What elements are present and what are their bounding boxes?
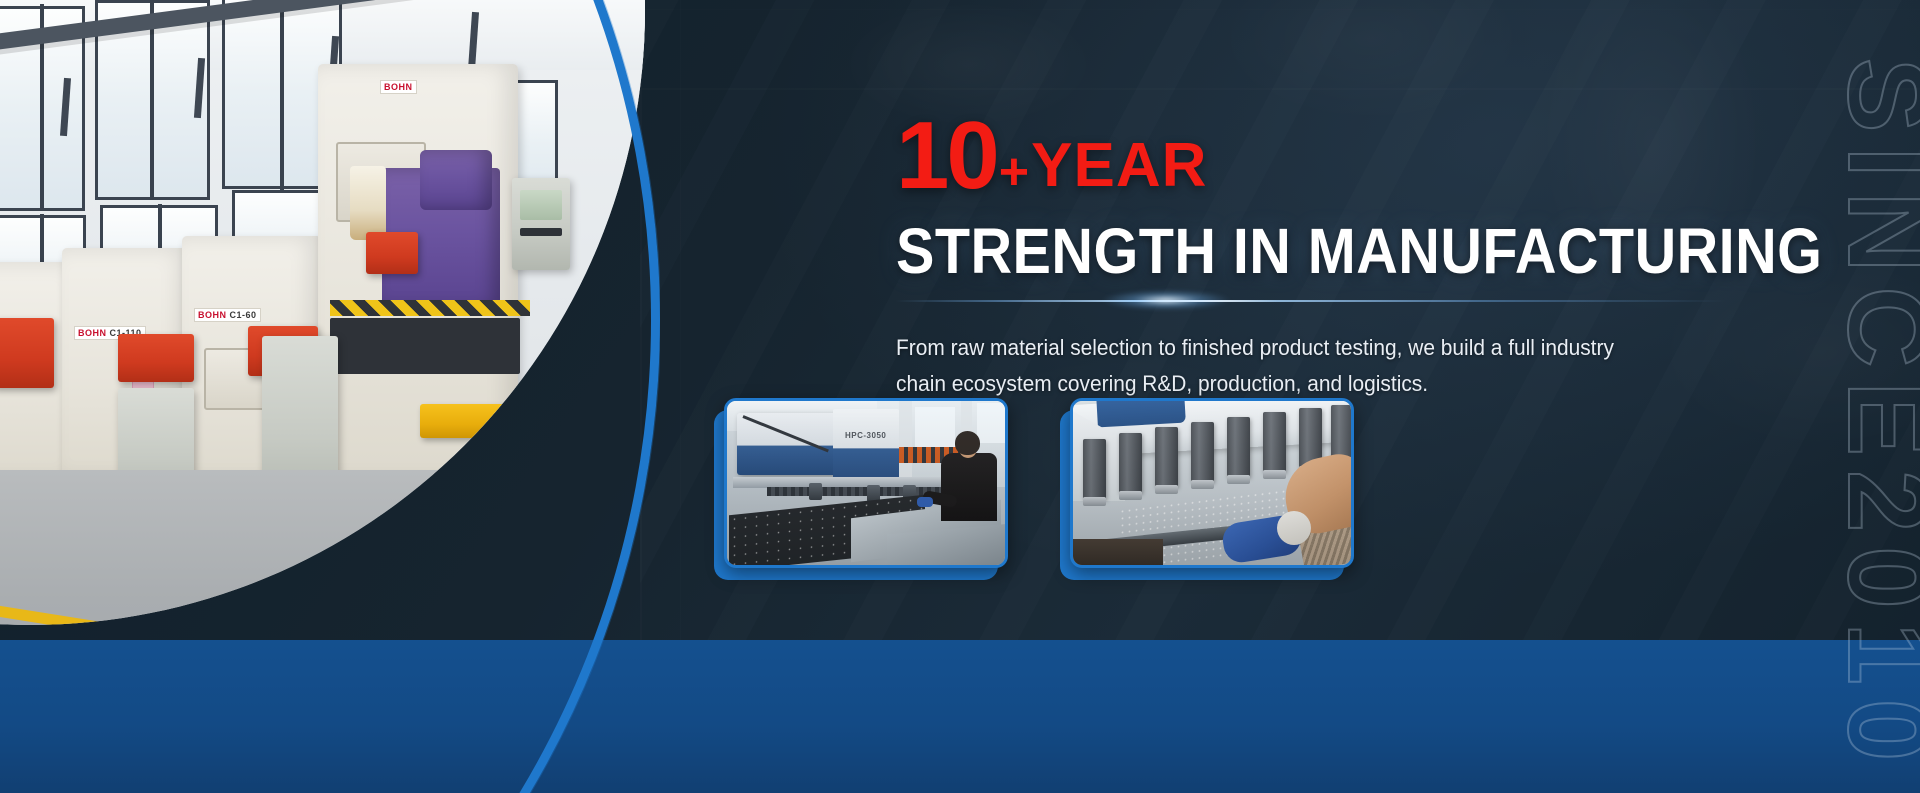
photo-card-press-brake[interactable] xyxy=(1070,398,1354,568)
years-eyebrow: 10 + YEAR xyxy=(896,108,1856,204)
press-die-area xyxy=(330,318,520,374)
hero-banner: SINCE2010 BOHN xyxy=(0,0,1920,793)
control-cabinet xyxy=(512,178,570,270)
floor-marking-line xyxy=(0,729,270,766)
card-photo-punch-press: HPC-3050 xyxy=(724,398,1008,568)
banner-headline: STRENGTH IN MANUFACTURING xyxy=(896,214,1760,288)
photo-card-group: HPC-3050 xyxy=(724,398,1354,568)
factory-photo-clip: BOHN BOHN C1-110 BOHN C1-60 BOHN xyxy=(0,0,660,793)
headline-glow-line xyxy=(896,294,1726,308)
red-panel-box xyxy=(0,318,54,388)
factory-photo: BOHN BOHN C1-110 BOHN C1-60 BOHN xyxy=(0,0,660,793)
lubricant-tank xyxy=(350,166,386,240)
window-mullion xyxy=(280,0,284,190)
years-plus-sign: + xyxy=(999,146,1029,198)
window-mullion xyxy=(150,0,154,200)
photo-card-punch-press[interactable]: HPC-3050 xyxy=(724,398,1008,568)
press-motor xyxy=(420,150,492,210)
yellow-foot-control xyxy=(420,404,524,438)
red-control-box xyxy=(366,232,418,274)
factory-floor xyxy=(0,470,660,793)
hazard-stripe xyxy=(330,300,530,316)
banner-description: From raw material selection to finished … xyxy=(896,330,1618,401)
copy-block: 10 + YEAR STRENGTH IN MANUFACTURING From… xyxy=(896,108,1856,401)
floor-marking-line xyxy=(0,603,448,687)
years-number: 10 xyxy=(896,108,997,204)
red-control-box xyxy=(118,334,194,382)
years-unit-label: YEAR xyxy=(1031,135,1207,197)
card-photo-press-brake xyxy=(1070,398,1354,568)
